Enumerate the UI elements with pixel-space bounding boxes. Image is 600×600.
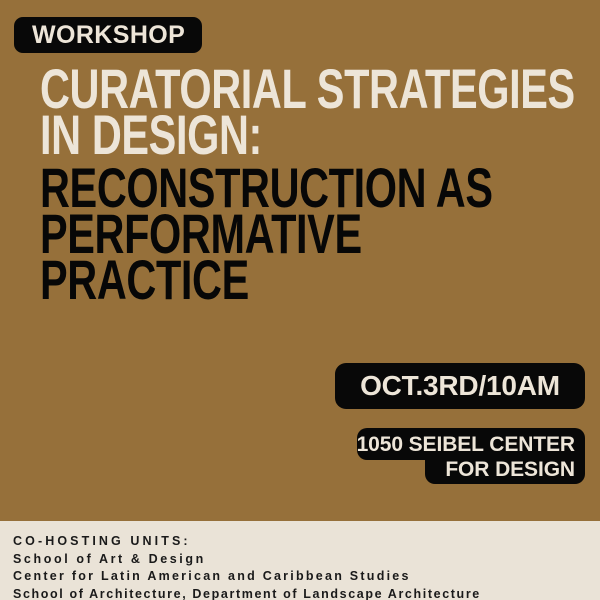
- venue-label-line-2: FOR DESIGN: [445, 459, 575, 480]
- venue-badge: 1050 SEIBEL CENTER FOR DESIGN: [357, 428, 585, 484]
- poster-canvas: WORKSHOP CURATORIAL STRATEGIES IN DESIGN…: [0, 0, 600, 600]
- venue-label-line-1: 1050 SEIBEL CENTER: [357, 434, 575, 455]
- workshop-badge: WORKSHOP: [14, 17, 202, 53]
- headline-line-5: PRACTICE: [40, 257, 440, 303]
- date-time-label: OCT.3RD/10AM: [360, 372, 560, 400]
- footer-unit-2: Center for Latin American and Caribbean …: [13, 568, 588, 586]
- venue-row-bottom: FOR DESIGN: [425, 454, 585, 484]
- date-time-badge: OCT.3RD/10AM: [335, 363, 585, 409]
- footer-unit-3: School of Architecture, Department of La…: [13, 586, 588, 600]
- headline-block: CURATORIAL STRATEGIES IN DESIGN: RECONST…: [40, 66, 580, 303]
- headline-line-2: IN DESIGN:: [40, 112, 440, 158]
- footer-unit-1: School of Art & Design: [13, 551, 588, 569]
- workshop-badge-label: WORKSHOP: [32, 23, 185, 48]
- footer-band: CO-HOSTING UNITS: School of Art & Design…: [0, 521, 600, 600]
- footer-heading: CO-HOSTING UNITS:: [13, 533, 588, 551]
